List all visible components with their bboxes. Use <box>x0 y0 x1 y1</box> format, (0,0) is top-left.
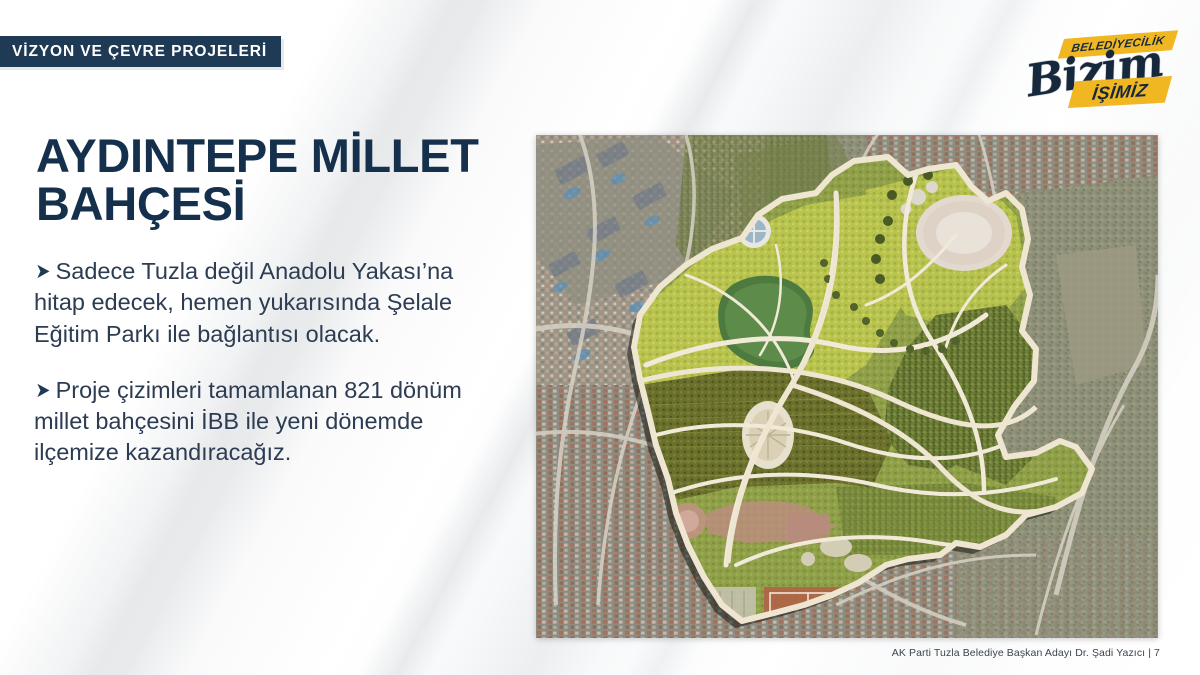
masterplan-aerial-image <box>536 135 1158 638</box>
bullet-list: ➤Sadece Tuzla değil Anadolu Yakası’na hi… <box>34 256 509 494</box>
footer-credit: AK Parti Tuzla Belediye Başkan Adayı Dr.… <box>892 647 1160 659</box>
logo-band-bottom-label: İŞİMİZ <box>1091 80 1149 105</box>
page-title: AYDINTEPE MİLLET BAHÇESİ <box>36 132 536 229</box>
bullet-paragraph: ➤Sadece Tuzla değil Anadolu Yakası’na hi… <box>34 256 509 350</box>
arrow-bullet-icon: ➤ <box>35 377 50 405</box>
bullet-paragraph: ➤Proje çizimleri tamamlanan 821 dönüm mi… <box>34 375 509 469</box>
bullet-text: Sadece Tuzla değil Anadolu Yakası’na hit… <box>34 258 453 347</box>
arrow-bullet-icon: ➤ <box>35 258 50 286</box>
section-ribbon-label: VİZYON VE ÇEVRE PROJELERİ <box>12 43 267 61</box>
bullet-text: Proje çizimleri tamamlanan 821 dönüm mil… <box>34 377 462 466</box>
page-title-line-1: AYDINTEPE MİLLET <box>36 129 479 182</box>
list-item: ➤Proje çizimleri tamamlanan 821 dönüm mi… <box>34 375 509 469</box>
campaign-logo: BELEDİYECİLİK Bizim İŞİMİZ <box>1018 22 1178 114</box>
section-ribbon: VİZYON VE ÇEVRE PROJELERİ <box>0 36 281 67</box>
list-item: ➤Sadece Tuzla değil Anadolu Yakası’na hi… <box>34 256 509 350</box>
page-title-line-2: BAHÇESİ <box>36 177 245 230</box>
